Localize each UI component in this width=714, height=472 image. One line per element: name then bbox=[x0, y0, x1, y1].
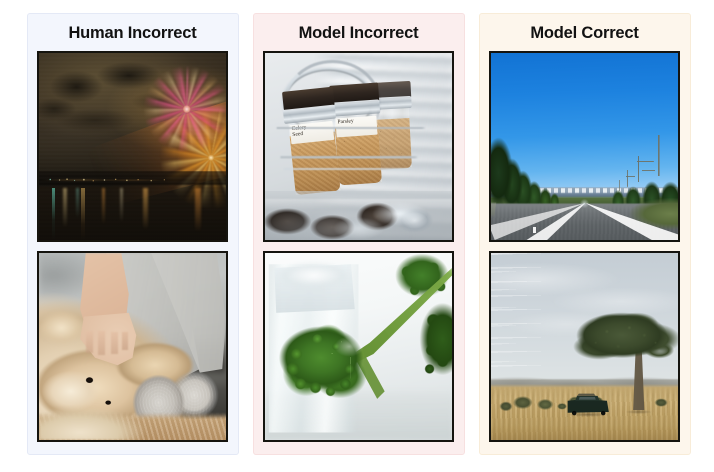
photo-dog-being-petted[interactable] bbox=[37, 251, 228, 442]
panel-human-incorrect: Human Incorrect bbox=[27, 13, 239, 455]
fireworks-reflection-b bbox=[39, 188, 226, 240]
image-stack-model-incorrect: Parsley Celery Seed bbox=[263, 51, 454, 442]
photo-safari-jeep-acacia[interactable] bbox=[489, 251, 680, 442]
fireworks-city-lights bbox=[39, 176, 226, 184]
photo-fireworks-over-river[interactable] bbox=[37, 51, 228, 242]
image-stack-human-incorrect bbox=[37, 51, 228, 442]
panel-model-incorrect: Model Incorrect bbox=[253, 13, 465, 455]
panel-title-model-correct: Model Correct bbox=[530, 21, 638, 47]
comparison-figure: Human Incorrect bbox=[0, 0, 714, 472]
photo-highway-to-mountains[interactable] bbox=[489, 51, 680, 242]
photo-spice-rack-jars[interactable]: Parsley Celery Seed bbox=[263, 51, 454, 242]
image-stack-model-correct bbox=[489, 51, 680, 442]
panel-title-human-incorrect: Human Incorrect bbox=[68, 21, 196, 47]
dog-fur-foreground bbox=[39, 253, 226, 440]
foreground-blur bbox=[265, 53, 452, 240]
panel-model-correct: Model Correct bbox=[479, 13, 691, 455]
foreground-grass-band bbox=[491, 253, 678, 440]
parsley-leaf-highlight bbox=[265, 253, 452, 440]
vanishing-point-glow bbox=[491, 53, 678, 240]
photo-parsley-leaf[interactable] bbox=[263, 251, 454, 442]
panel-title-model-incorrect: Model Incorrect bbox=[299, 21, 419, 47]
